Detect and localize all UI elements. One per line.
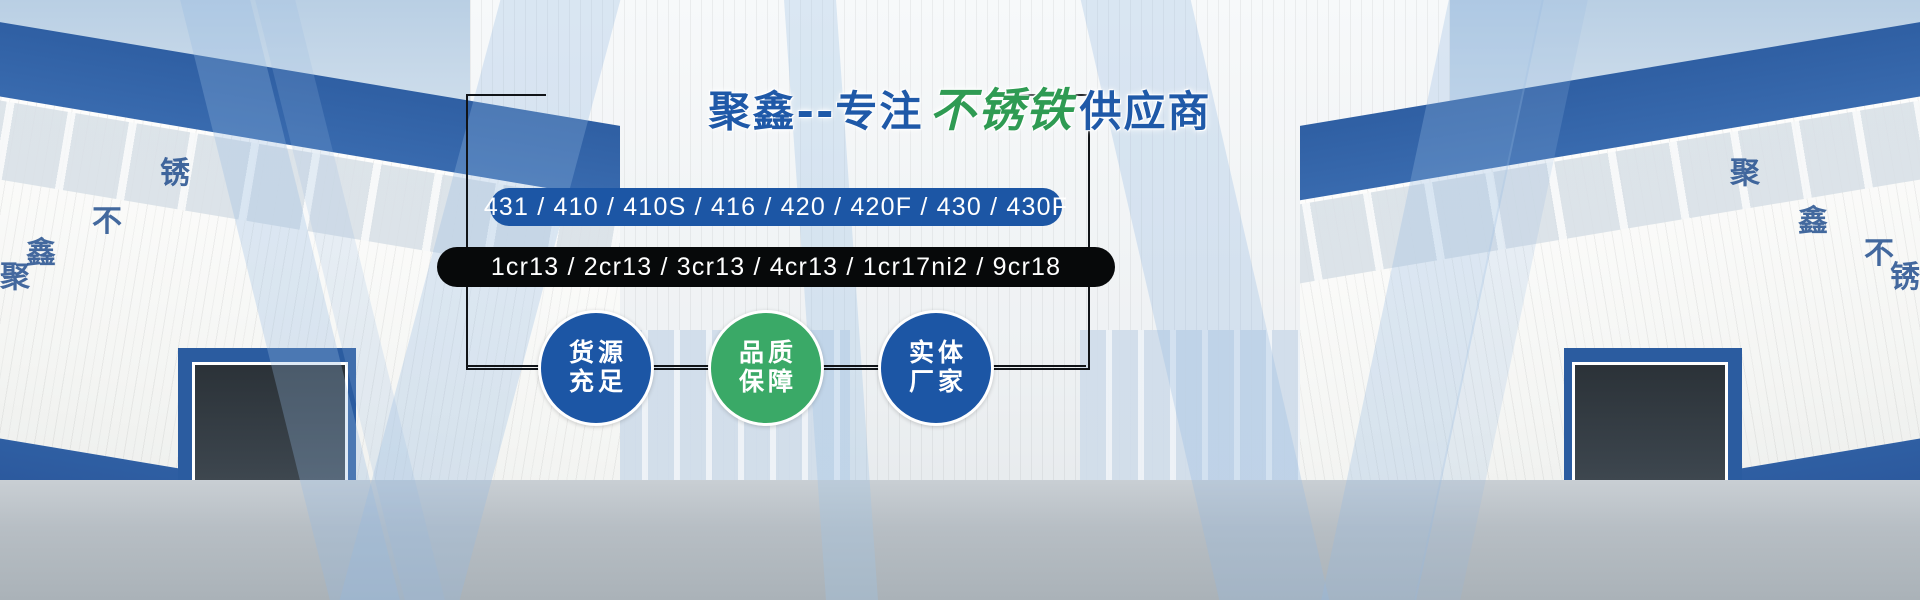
headline: 聚鑫--专注不锈铁供应商	[0, 74, 1920, 140]
badge-connector-line	[466, 365, 546, 367]
headline-supplier: 供应商	[1079, 87, 1211, 136]
badge-line-2: 充足	[565, 368, 627, 397]
feature-badge-quality: 品质 保障	[708, 310, 824, 426]
headline-dash: --	[797, 87, 836, 136]
badge-connector-line	[816, 365, 886, 367]
feature-badge-factory: 实体 厂家	[878, 310, 994, 426]
badge-line-2: 厂家	[905, 368, 967, 397]
badge-line-2: 保障	[735, 368, 797, 397]
badge-line-1: 实体	[905, 339, 967, 368]
badge-line-1: 货源	[565, 339, 627, 368]
badge-line-1: 品质	[735, 339, 797, 368]
grade-bar-primary: 431 / 410 / 410S / 416 / 420 / 420F / 43…	[490, 188, 1062, 226]
feature-badge-supply: 货源 充足	[538, 310, 654, 426]
headline-highlight: 不锈铁	[923, 83, 1079, 137]
banner-content: 聚鑫--专注不锈铁供应商 431 / 410 / 410S / 416 / 42…	[0, 0, 1920, 600]
headline-focus: 专注	[835, 87, 923, 136]
feature-badge-row: 货源 充足 品质 保障 实体 厂家	[0, 310, 1920, 420]
badge-connector-line	[646, 365, 714, 367]
headline-brand: 聚鑫	[709, 87, 797, 136]
grade-bar-secondary: 1cr13 / 2cr13 / 3cr13 / 4cr13 / 1cr17ni2…	[437, 247, 1115, 287]
badge-connector-line	[986, 365, 1086, 367]
promo-banner: 锈 不 鑫 聚 聚 鑫 不 锈	[0, 0, 1920, 600]
